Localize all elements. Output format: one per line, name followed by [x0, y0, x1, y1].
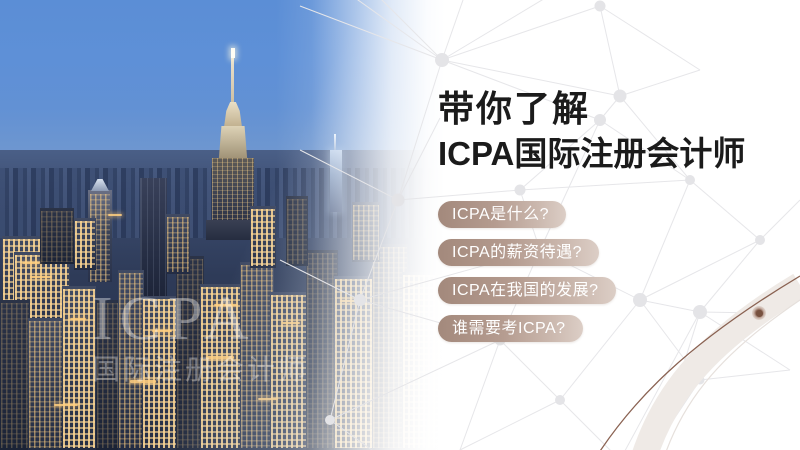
headline-line-2: ICPA国际注册会计师 — [438, 134, 788, 174]
banner-content: 带你了解 ICPA国际注册会计师 ICPA是什么? ICPA的薪资待遇? ICP… — [438, 88, 788, 353]
city-skyline-photo: ICPA 国际注册会计师 — [0, 0, 445, 450]
headline-line-1: 带你了解 — [438, 88, 788, 130]
watermark-main-text: ICPA — [92, 288, 322, 350]
icpa-promo-banner: ICPA 国际注册会计师 — [0, 0, 800, 450]
question-pill-1[interactable]: ICPA是什么? — [438, 201, 566, 228]
question-pill-3[interactable]: ICPA在我国的发展? — [438, 277, 616, 304]
question-pill-4[interactable]: 谁需要考ICPA? — [438, 315, 583, 342]
watermark-sub-text: 国际注册会计师 — [92, 356, 322, 384]
question-pill-2[interactable]: ICPA的薪资待遇? — [438, 239, 599, 266]
watermark: ICPA 国际注册会计师 — [92, 288, 322, 384]
